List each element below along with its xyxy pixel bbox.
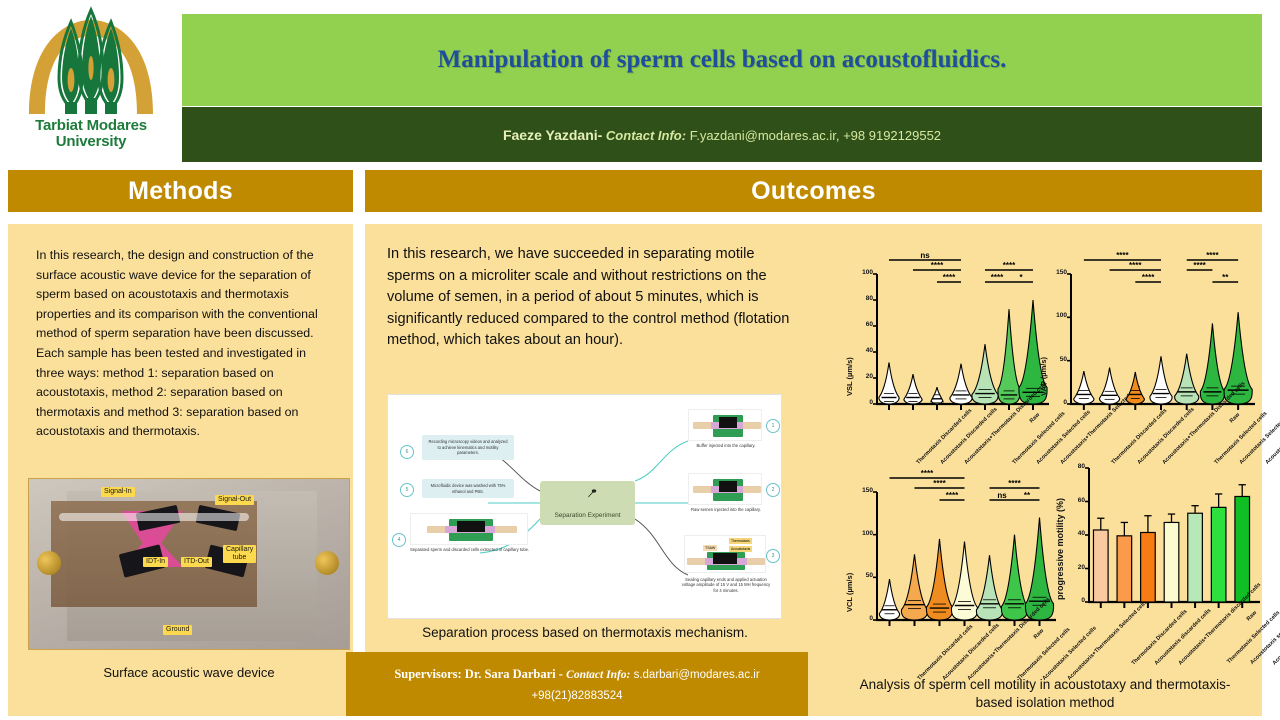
flow-center-label: Separation Experiment <box>554 512 620 519</box>
flow-center-node: Separation Experiment <box>540 481 635 525</box>
device-label-signal-out: Signal-Out <box>215 495 254 505</box>
ytick-label: 60 <box>851 321 873 328</box>
svg-text:****: **** <box>943 273 956 282</box>
university-logo: Tarbiat Modares University <box>0 0 182 168</box>
svg-text:****: **** <box>1129 261 1142 270</box>
supervisors-contact-label: Contact Info: <box>566 669 630 681</box>
device-label-idt-in: IDT-In <box>143 557 168 567</box>
flow-note-1: Buffer injected into the capillary. <box>684 443 768 448</box>
y-axis-label: VCL (µm/s) <box>845 573 854 612</box>
methods-body-text: In this research, the design and constru… <box>36 246 336 442</box>
flow-chip-5: 5 <box>400 483 414 497</box>
supervisors-banner: Supervisors: Dr. Sara Darbari - Contact … <box>346 652 808 716</box>
y-axis-label: progressive motility (%) <box>1055 498 1065 600</box>
supervisors-contact-value: s.darbari@modares.ac.ir <box>634 669 760 681</box>
chart-vcl: ****************ns**050100150VCL (µm/s)T… <box>843 452 1058 682</box>
y-axis-label: VSL (µm/s) <box>845 357 854 396</box>
flow-chip-3: 3 <box>766 549 780 563</box>
poster-root: Tarbiat Modares University Manipulation … <box>0 0 1280 720</box>
svg-text:****: **** <box>933 479 946 488</box>
flow-caption: Separation process based on thermotaxis … <box>385 624 785 642</box>
flow-note-4: Separated sperm and discarded cells extr… <box>410 547 530 552</box>
svg-text:****: **** <box>1206 251 1219 260</box>
chart-vap: **********************050100150VAP (µm/s… <box>1037 234 1257 466</box>
flow-card-4 <box>410 513 528 545</box>
ytick-label: 100 <box>1045 312 1067 319</box>
ytick-label: 100 <box>851 269 873 276</box>
device-caption: Surface acoustic wave device <box>28 664 350 682</box>
svg-text:****: **** <box>991 273 1004 282</box>
svg-text:****: **** <box>1116 251 1129 260</box>
device-capillary <box>59 513 249 521</box>
device-sma-left <box>37 551 61 575</box>
separation-process-diagram: Separation Experiment 6 Recording micros… <box>387 394 782 619</box>
svg-text:**: ** <box>1024 491 1031 500</box>
flow-card-2 <box>688 473 762 505</box>
tag-tsaw: TSAW <box>703 545 717 551</box>
supervisors-line: Supervisors: Dr. Sara Darbari - Contact … <box>394 667 759 682</box>
ytick-label: 50 <box>1045 356 1067 363</box>
svg-text:****: **** <box>946 491 959 500</box>
svg-text:ns: ns <box>997 491 1007 500</box>
svg-text:****: **** <box>1008 479 1021 488</box>
author-name: Faeze Yazdani- <box>503 127 602 143</box>
ytick-label: 100 <box>851 530 873 537</box>
flow-chip-2: 2 <box>766 483 780 497</box>
flow-note-2: Raw semen injected into the capillary. <box>684 507 768 512</box>
ytick-label: 20 <box>851 373 873 380</box>
flow-chip-6: 6 <box>400 445 414 459</box>
ytick-label: 40 <box>1065 530 1085 537</box>
svg-text:****: **** <box>921 469 934 478</box>
charts-caption: Analysis of sperm cell motility in acous… <box>845 676 1245 712</box>
ytick-label: 0 <box>1045 399 1067 406</box>
y-axis-label: VAP (µm/s) <box>1039 357 1048 396</box>
flow-card-3: Thermotaxis Acoustotaxis TSAW <box>684 535 766 573</box>
ytick-label: 150 <box>851 487 873 494</box>
ytick-label: 60 <box>1065 497 1085 504</box>
svg-text:****: **** <box>931 261 944 270</box>
supervisors-label: Supervisors: Dr. Sara Darbari - <box>394 667 563 681</box>
ytick-label: 0 <box>1065 597 1085 604</box>
flow-note-6: Recording microscopy videos and analyzed… <box>422 435 514 460</box>
ytick-label: 20 <box>1065 564 1085 571</box>
ytick-label: 80 <box>851 295 873 302</box>
methods-panel: In this research, the design and constru… <box>8 224 353 716</box>
svg-text:*: * <box>1019 273 1023 282</box>
flow-chip-4: 4 <box>392 533 406 547</box>
chart-progressive-motility: 020406080progressive motility (%)Thermot… <box>1055 452 1260 684</box>
device-sma-right <box>315 551 339 575</box>
title-banner: Manipulation of sperm cells based on aco… <box>182 14 1262 106</box>
outcomes-body-text: In this research, we have succeeded in s… <box>387 244 797 352</box>
author-contact-value: F.yazdani@modares.ac.ir, +98 9192129552 <box>690 128 941 143</box>
author-banner: Faeze Yazdani- Contact Info: F.yazdani@m… <box>182 107 1262 162</box>
device-label-capillary: Capillary tube <box>223 545 256 563</box>
section-header-methods-label: Methods <box>128 177 233 206</box>
ytick-label: 50 <box>851 572 873 579</box>
author-contact-label: Contact Info: <box>606 128 686 143</box>
flow-note-5: Microfluidic device was washed with 75% … <box>422 479 514 498</box>
section-header-outcomes-label: Outcomes <box>751 177 876 206</box>
outcomes-panel: In this research, we have succeeded in s… <box>365 224 1262 716</box>
section-header-outcomes: Outcomes <box>365 170 1262 212</box>
logo-text: Tarbiat Modares University <box>35 118 147 150</box>
svg-text:ns: ns <box>920 251 930 260</box>
supervisors-phone: +98(21)82883524 <box>531 690 622 702</box>
saw-device-photo: Signal-In Signal-Out IDT-In ITD-Out Capi… <box>28 478 350 650</box>
tulip-logo-icon <box>21 6 161 118</box>
device-label-itd-out: ITD-Out <box>181 557 212 567</box>
flow-chip-1: 1 <box>766 419 780 433</box>
flow-card-1 <box>688 409 762 441</box>
logo-line-1: Tarbiat Modares <box>35 118 147 134</box>
ytick-label: 0 <box>851 615 873 622</box>
svg-text:****: **** <box>1003 261 1016 270</box>
svg-text:****: **** <box>1193 261 1206 270</box>
flow-note-3: Sealing capillary ends and applied actua… <box>680 577 772 593</box>
svg-text:**: ** <box>1222 273 1229 282</box>
tag-thermotaxis: Thermotaxis <box>729 538 752 544</box>
chart-vsl: ns*****************020406080100VSL (µm/s… <box>843 234 1051 466</box>
ytick-label: 150 <box>1045 269 1067 276</box>
author-contact-line: Faeze Yazdani- Contact Info: F.yazdani@m… <box>503 127 941 143</box>
svg-text:****: **** <box>1142 273 1155 282</box>
page-title: Manipulation of sperm cells based on aco… <box>438 46 1007 74</box>
sperm-icon <box>586 487 598 499</box>
logo-line-2: University <box>35 134 147 150</box>
ytick-label: 40 <box>851 347 873 354</box>
device-label-signal-in: Signal-In <box>101 487 135 497</box>
section-header-methods: Methods <box>8 170 353 212</box>
ytick-label: 80 <box>1065 463 1085 470</box>
device-label-ground: Ground <box>163 625 192 635</box>
ytick-label: 0 <box>851 399 873 406</box>
